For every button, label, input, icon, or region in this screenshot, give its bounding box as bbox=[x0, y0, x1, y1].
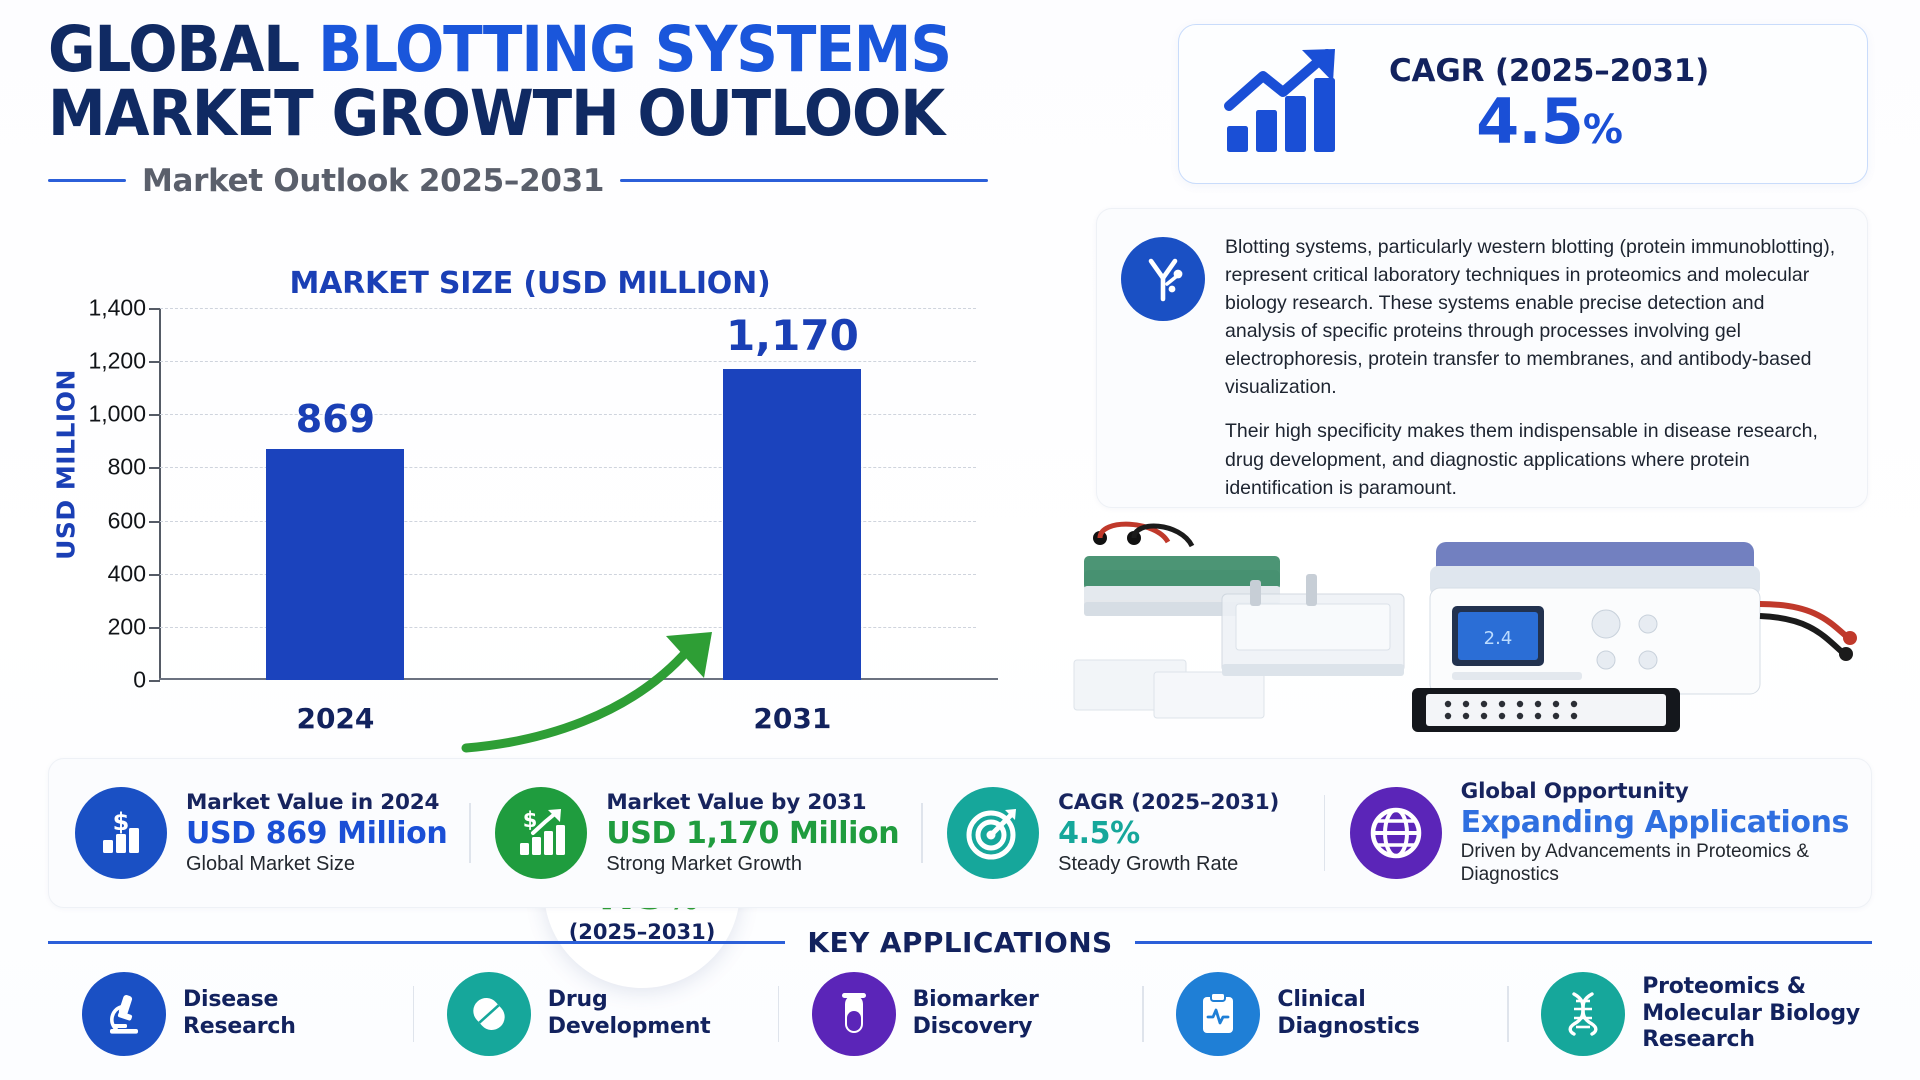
page-title-line2: MARKET GROWTH OUTLOOK bbox=[48, 82, 977, 146]
description-card: Blotting systems, particularly western b… bbox=[1096, 208, 1868, 508]
chart-bar bbox=[266, 449, 404, 680]
stat-card-subtext: Driven by Advancements in Proteomics & D… bbox=[1461, 841, 1849, 887]
test-tube-icon bbox=[812, 972, 896, 1056]
stat-card-heading: CAGR (2025–2031) bbox=[1058, 790, 1279, 815]
stat-card-value: USD 1,170 Million bbox=[606, 816, 899, 851]
key-applications-row: DiseaseResearchDrugDevelopmentBiomarkerD… bbox=[48, 962, 1872, 1066]
chart-bar-value-label: 1,170 bbox=[726, 311, 859, 360]
stat-card-value: Expanding Applications bbox=[1461, 805, 1849, 840]
description-text: Blotting systems, particularly western b… bbox=[1225, 233, 1839, 487]
description-paragraph-2: Their high specificity makes them indisp… bbox=[1225, 417, 1839, 501]
stat-card: CAGR (2025–2031)4.5%Steady Growth Rate bbox=[921, 787, 1323, 879]
chart-y-axis-line bbox=[159, 308, 161, 680]
dollar-bar-chart-icon: $ bbox=[75, 787, 167, 879]
chart-y-tick-label: 0 bbox=[133, 667, 146, 694]
stat-card-value: 4.5% bbox=[1058, 816, 1279, 851]
stat-card: $Market Value by 2031USD 1,170 MillionSt… bbox=[469, 787, 921, 879]
cagr-badge-text: CAGR (2025–2031) 4.5% bbox=[1389, 53, 1709, 156]
application-item: BiomarkerDiscovery bbox=[778, 972, 1143, 1056]
cagr-badge-label: CAGR (2025–2031) bbox=[1389, 53, 1709, 89]
chart-y-tick-label: 600 bbox=[108, 507, 146, 534]
chart-gridline bbox=[160, 308, 976, 309]
stat-card-value: USD 869 Million bbox=[186, 816, 447, 851]
application-label-line3: Research bbox=[1642, 1027, 1755, 1052]
stat-card-body: Global OpportunityExpanding Applications… bbox=[1461, 779, 1849, 887]
chart-tick-mark bbox=[149, 467, 160, 469]
subtitle-row: Market Outlook 2025–2031 bbox=[48, 163, 988, 199]
application-item: DiseaseResearch bbox=[48, 972, 413, 1056]
application-label: DiseaseResearch bbox=[183, 987, 296, 1041]
chart-tick-mark bbox=[149, 308, 160, 310]
application-item: DrugDevelopment bbox=[413, 972, 778, 1056]
application-label-line1: Proteomics & bbox=[1642, 974, 1806, 999]
stat-card-heading: Global Opportunity bbox=[1461, 779, 1849, 804]
globe-icon bbox=[1350, 787, 1442, 879]
chart-tick-mark bbox=[149, 521, 160, 523]
cagr-badge-percent: % bbox=[1583, 107, 1622, 153]
chart-y-tick-label: 1,400 bbox=[88, 295, 146, 322]
application-item: Proteomics &Molecular BiologyResearch bbox=[1507, 972, 1872, 1056]
chart-y-tick-label: 1,000 bbox=[88, 401, 146, 428]
subtitle-rule-left bbox=[48, 179, 126, 182]
chart-y-tick-label: 200 bbox=[108, 613, 146, 640]
stat-card-subtext: Strong Market Growth bbox=[606, 853, 899, 876]
header: GLOBAL BLOTTING SYSTEMS MARKET GROWTH OU… bbox=[48, 18, 1058, 199]
stat-card-body: Market Value by 2031USD 1,170 MillionStr… bbox=[606, 790, 899, 875]
growth-bar-chart-arrow-icon bbox=[1223, 48, 1351, 161]
application-label: DrugDevelopment bbox=[548, 987, 711, 1041]
cagr-badge-value: 4.5% bbox=[1476, 89, 1622, 156]
title-highlight: BLOTTING SYSTEMS bbox=[318, 13, 951, 86]
application-label-line1: Clinical bbox=[1277, 987, 1365, 1012]
application-label-line2: Molecular Biology bbox=[1642, 1001, 1860, 1026]
cagr-badge-number: 4.5 bbox=[1476, 85, 1583, 158]
chart-y-tick-label: 1,200 bbox=[88, 348, 146, 375]
application-item: ClinicalDiagnostics bbox=[1142, 972, 1507, 1056]
stat-card-subtext: Global Market Size bbox=[186, 853, 447, 876]
stat-card: Global OpportunityExpanding Applications… bbox=[1324, 779, 1871, 887]
application-label-line2: Research bbox=[183, 1014, 296, 1039]
stat-card: $Market Value in 2024USD 869 MillionGlob… bbox=[49, 787, 469, 879]
stat-cards-row: $Market Value in 2024USD 869 MillionGlob… bbox=[48, 758, 1872, 908]
bar-chart: USD MILLION 02004006008001,0001,2001,400… bbox=[48, 300, 1008, 750]
application-label-line2: Diagnostics bbox=[1277, 1014, 1419, 1039]
apps-rule-right bbox=[1135, 941, 1872, 944]
key-applications-header: KEY APPLICATIONS bbox=[48, 926, 1872, 959]
chart-y-axis-label: USD MILLION bbox=[52, 315, 81, 615]
page-subtitle: Market Outlook 2025–2031 bbox=[142, 163, 604, 199]
target-dart-icon bbox=[947, 787, 1039, 879]
stat-card-heading: Market Value in 2024 bbox=[186, 790, 447, 815]
dna-helix-icon bbox=[1541, 972, 1625, 1056]
equipment-illustration: 2.4 bbox=[1060, 512, 1872, 742]
application-label-line1: Drug bbox=[548, 987, 608, 1012]
chart-bar-value-label: 869 bbox=[296, 397, 375, 441]
page-title: GLOBAL BLOTTING SYSTEMS bbox=[48, 18, 977, 82]
chart-bar bbox=[723, 369, 861, 680]
infographic-page: GLOBAL BLOTTING SYSTEMS MARKET GROWTH OU… bbox=[0, 0, 1920, 1080]
chart-tick-mark bbox=[149, 574, 160, 576]
chart-y-tick-label: 400 bbox=[108, 560, 146, 587]
application-label-line2: Development bbox=[548, 1014, 711, 1039]
svg-text:$: $ bbox=[113, 808, 130, 836]
subtitle-rule-right bbox=[620, 179, 988, 182]
chart-y-tick-label: 800 bbox=[108, 454, 146, 481]
clipboard-pulse-icon bbox=[1176, 972, 1260, 1056]
stat-card-heading: Market Value by 2031 bbox=[606, 790, 899, 815]
application-label-line1: Disease bbox=[183, 987, 278, 1012]
application-label-line2: Discovery bbox=[913, 1014, 1033, 1039]
chart-tick-mark bbox=[149, 361, 160, 363]
apps-rule-left bbox=[48, 941, 785, 944]
chart-x-tick-label: 2024 bbox=[296, 702, 374, 735]
title-part1: GLOBAL bbox=[48, 13, 318, 86]
chart-tick-mark bbox=[149, 627, 160, 629]
chart-plot-area: 02004006008001,0001,2001,40086920241,170… bbox=[160, 308, 976, 680]
chart-x-tick-label: 2031 bbox=[753, 702, 831, 735]
stat-card-body: CAGR (2025–2031)4.5%Steady Growth Rate bbox=[1058, 790, 1279, 875]
chart-gridline bbox=[160, 361, 976, 362]
cagr-badge: CAGR (2025–2031) 4.5% bbox=[1178, 24, 1868, 184]
key-applications-title: KEY APPLICATIONS bbox=[807, 926, 1112, 959]
stat-card-body: Market Value in 2024USD 869 MillionGloba… bbox=[186, 790, 447, 875]
capsule-pill-icon bbox=[447, 972, 531, 1056]
description-paragraph-1: Blotting systems, particularly western b… bbox=[1225, 233, 1839, 401]
dollar-growth-chart-icon: $ bbox=[495, 787, 587, 879]
application-label: Proteomics &Molecular BiologyResearch bbox=[1642, 974, 1860, 1054]
svg-text:2.4: 2.4 bbox=[1484, 628, 1513, 649]
chart-tick-mark bbox=[149, 414, 160, 416]
chart-tick-mark bbox=[149, 680, 160, 682]
chart-title: MARKET SIZE (USD MILLION) bbox=[180, 266, 880, 301]
antibody-icon bbox=[1121, 237, 1205, 321]
microscope-icon bbox=[82, 972, 166, 1056]
application-label: ClinicalDiagnostics bbox=[1277, 987, 1419, 1041]
application-label-line1: Biomarker bbox=[913, 987, 1039, 1012]
application-label: BiomarkerDiscovery bbox=[913, 987, 1039, 1041]
stat-card-subtext: Steady Growth Rate bbox=[1058, 853, 1279, 876]
